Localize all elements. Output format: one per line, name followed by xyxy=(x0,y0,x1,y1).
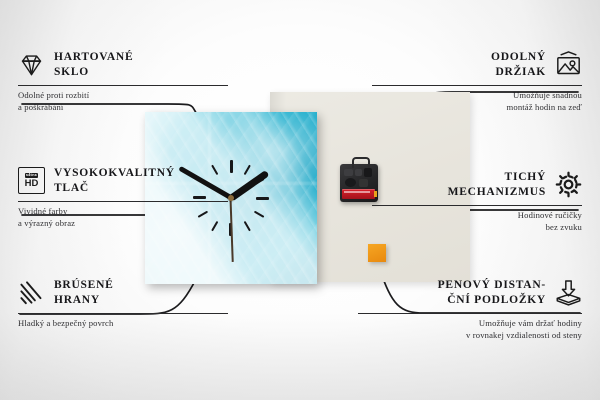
feature-high-quality-print: ultra HD VYSOKOKVALITNÝ TLAČ Vividné far… xyxy=(18,166,228,230)
picture-frame-hanger-icon xyxy=(555,51,582,78)
diamond-icon xyxy=(18,51,45,78)
feature-polished-edges: BRÚSENÉ HRANY Hladký a bezpečný povrch xyxy=(18,278,228,330)
mechanism-detail xyxy=(364,168,372,177)
gear-icon xyxy=(555,171,582,198)
feature-subtitle: Odolné proti rozbití a poškrábání xyxy=(18,90,228,114)
feature-rule xyxy=(358,313,582,314)
feature-subtitle: Umožňuje snadnou montáž hodin na zeď xyxy=(372,90,582,114)
feature-title: BRÚSENÉ HRANY xyxy=(54,278,114,308)
feature-rule xyxy=(372,85,582,86)
polished-edges-icon xyxy=(18,279,45,306)
mechanism-hanger xyxy=(352,157,370,168)
feature-title: TICHÝ MECHANIZMUS xyxy=(448,170,546,200)
feature-tempered-glass: HARTOVANÉ SKLO Odolné proti rozbití a po… xyxy=(18,50,228,114)
clock-center-cap xyxy=(228,195,234,201)
feature-subtitle: Vividné farby a výrazný obraz xyxy=(18,206,228,230)
feature-title: VYSOKOKVALITNÝ TLAČ xyxy=(54,166,175,196)
mechanism-detail xyxy=(344,169,353,176)
mechanism-detail xyxy=(345,178,356,187)
feature-subtitle: Hladký a bezpečný povrch xyxy=(18,318,228,330)
feature-rule xyxy=(372,205,582,206)
mechanism-detail xyxy=(359,179,368,187)
feature-title: ODOLNÝ DRŽIAK xyxy=(491,50,546,80)
feature-subtitle: Hodinové ručičky bez zvuku xyxy=(372,210,582,234)
press-down-pad-icon xyxy=(555,279,582,306)
feature-title: HARTOVANÉ SKLO xyxy=(54,50,133,80)
feature-durable-holder: ODOLNÝ DRŽIAK Umožňuje snadnou montáž ho… xyxy=(372,50,582,114)
mechanism-detail xyxy=(355,169,362,176)
feature-rule xyxy=(18,201,228,202)
foam-spacer-pad xyxy=(368,244,386,262)
feature-rule xyxy=(18,85,228,86)
battery-label-stripe xyxy=(344,191,370,193)
feature-silent-mechanism: TICHÝ MECHANIZMUS Hodinové ručičky bez z… xyxy=(372,170,582,234)
feature-rule xyxy=(18,313,228,314)
mechanism-battery xyxy=(342,189,375,199)
feature-subtitle: Umožňuje vám držať hodiny v rovnakej vzd… xyxy=(358,318,582,342)
product-infographic: HARTOVANÉ SKLO Odolné proti rozbití a po… xyxy=(0,0,600,400)
ultra-hd-icon: ultra HD xyxy=(18,167,45,194)
feature-foam-spacers: PENOVÝ DISTAN- ČNÍ PODLOŽKY Umožňuje vám… xyxy=(358,278,582,342)
feature-title: PENOVÝ DISTAN- ČNÍ PODLOŽKY xyxy=(438,278,546,308)
